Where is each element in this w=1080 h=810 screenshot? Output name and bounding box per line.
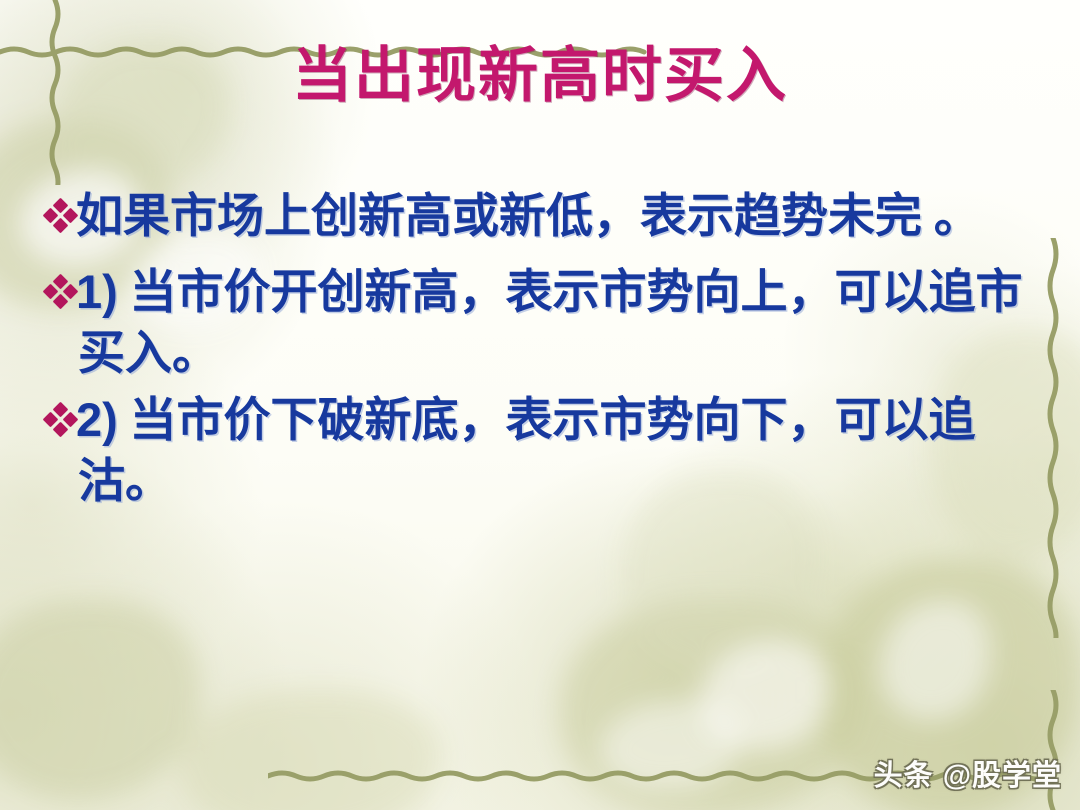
list-item: 2) 当市价下破新底，表示市势向下，可以追沽。: [44, 390, 1034, 512]
list-item: 如果市场上创新高或新低，表示趋势未完 。: [44, 186, 1034, 256]
presentation-slide: 当出现新高时买入 如果市场上创新高或新低，表示趋势未完 。 1) 当市价开创新高…: [0, 0, 1080, 810]
diamond-cluster-bullet-icon: [44, 276, 78, 332]
bullet-body-3: 当市价下破新底，表示市势向下，可以追沽。: [78, 395, 976, 508]
list-item: 1) 当市价开创新高，表示市势向上，可以追市买入。: [44, 262, 1034, 384]
bullet-text-1: 如果市场上创新高或新低，表示趋势未完 。: [78, 186, 1034, 248]
bullet-body-1: 如果市场上创新高或新低，表示趋势未完 。: [76, 191, 981, 243]
bullet-number-2: 1): [76, 265, 118, 318]
diamond-cluster-bullet-icon: [44, 404, 78, 460]
bullet-list: 如果市场上创新高或新低，表示趋势未完 。 1) 当市价开创新高，表示市势向上，可…: [44, 186, 1034, 519]
wavy-rule-right-vertical: [1046, 238, 1060, 638]
diamond-cluster-bullet-icon: [44, 200, 78, 256]
bullet-number-3: 2): [76, 393, 118, 446]
bullet-body-2: 当市价开创新高，表示市势向上，可以追市买入。: [78, 267, 1023, 380]
bullet-text-2: 1) 当市价开创新高，表示市势向上，可以追市买入。: [78, 262, 1034, 384]
bullet-text-3: 2) 当市价下破新底，表示市势向下，可以追沽。: [78, 390, 1034, 512]
watermark-label: 头条 @股学堂: [874, 752, 1062, 794]
slide-title: 当出现新高时买入: [0, 44, 1080, 109]
